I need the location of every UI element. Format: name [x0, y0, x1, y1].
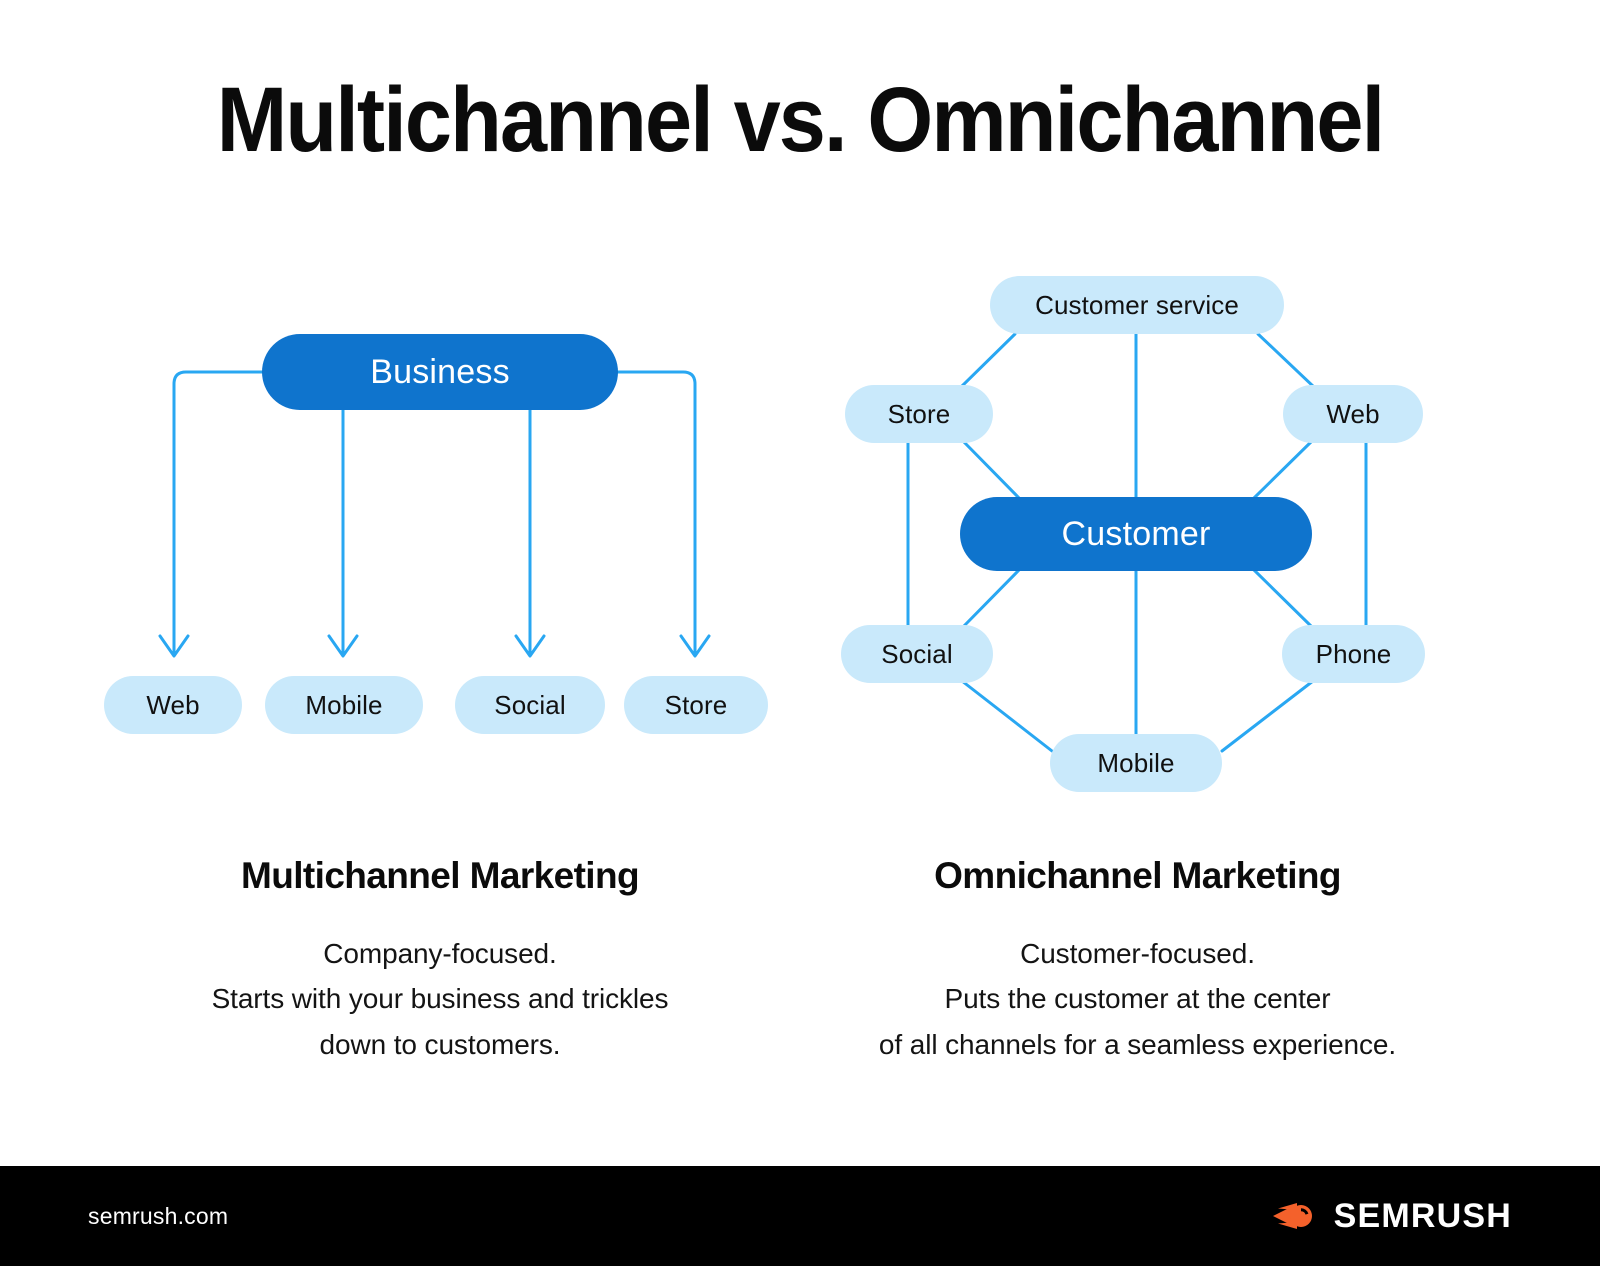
edge-business-web: [174, 372, 262, 652]
semrush-wordmark: SEMRUSH: [1334, 1197, 1512, 1236]
edge-cs-store: [960, 334, 1015, 388]
multichannel-caption: Multichannel Marketing Company-focused. …: [80, 855, 800, 1067]
node-customer-label: Customer: [1062, 515, 1211, 554]
multichannel-caption-line-2: Starts with your business and trickles: [80, 976, 800, 1021]
semrush-logo[interactable]: SEMRUSH: [1272, 1197, 1512, 1236]
node-multichannel-store-label: Store: [665, 690, 728, 721]
edge-customer-phone: [1253, 569, 1313, 628]
multichannel-caption-line-3: down to customers.: [80, 1022, 800, 1067]
edge-business-store: [616, 372, 695, 652]
arrowhead-social: [516, 636, 544, 656]
page-title: Multichannel vs. Omnichannel: [64, 72, 1536, 169]
omnichannel-caption-heading: Omnichannel Marketing: [775, 855, 1500, 897]
node-multichannel-store[interactable]: Store: [624, 676, 768, 734]
edge-social-mobile: [962, 681, 1052, 751]
node-omnichannel-store-label: Store: [888, 399, 951, 430]
node-multichannel-mobile[interactable]: Mobile: [265, 676, 423, 734]
node-customer[interactable]: Customer: [960, 497, 1312, 571]
footer-bar: semrush.com SEMRUSH: [0, 1166, 1600, 1266]
arrowhead-mobile: [329, 636, 357, 656]
omnichannel-caption-line-3: of all channels for a seamless experienc…: [775, 1022, 1500, 1067]
omnichannel-caption: Omnichannel Marketing Customer-focused. …: [775, 855, 1500, 1067]
omnichannel-caption-body: Customer-focused. Puts the customer at t…: [775, 931, 1500, 1067]
multichannel-caption-line-1: Company-focused.: [80, 931, 800, 976]
edge-cs-web: [1258, 334, 1315, 388]
node-omnichannel-store[interactable]: Store: [845, 385, 993, 443]
footer-url[interactable]: semrush.com: [88, 1203, 228, 1230]
multichannel-edges: [160, 372, 709, 656]
infographic-page: Multichannel vs. Omnichannel: [0, 0, 1600, 1266]
node-omnichannel-mobile[interactable]: Mobile: [1050, 734, 1222, 792]
omnichannel-caption-line-2: Puts the customer at the center: [775, 976, 1500, 1021]
node-business-label: Business: [370, 353, 510, 392]
node-multichannel-social-label: Social: [494, 690, 565, 721]
node-omnichannel-phone[interactable]: Phone: [1282, 625, 1425, 683]
node-multichannel-mobile-label: Mobile: [305, 690, 382, 721]
multichannel-caption-heading: Multichannel Marketing: [80, 855, 800, 897]
node-customer-service-label: Customer service: [1035, 290, 1239, 321]
node-customer-service[interactable]: Customer service: [990, 276, 1284, 334]
semrush-comet-icon: [1272, 1199, 1318, 1233]
node-omnichannel-social[interactable]: Social: [841, 625, 993, 683]
edge-customer-social: [962, 569, 1020, 628]
multichannel-caption-body: Company-focused. Starts with your busine…: [80, 931, 800, 1067]
node-multichannel-web-label: Web: [146, 690, 199, 721]
node-omnichannel-web[interactable]: Web: [1283, 385, 1423, 443]
node-business[interactable]: Business: [262, 334, 618, 410]
node-omnichannel-social-label: Social: [881, 639, 952, 670]
node-multichannel-social[interactable]: Social: [455, 676, 605, 734]
node-omnichannel-mobile-label: Mobile: [1097, 748, 1174, 779]
edge-store-customer: [962, 440, 1020, 499]
edge-phone-mobile: [1222, 681, 1313, 751]
arrowhead-store: [681, 636, 709, 656]
arrowhead-web: [160, 636, 188, 656]
node-omnichannel-phone-label: Phone: [1316, 639, 1392, 670]
node-omnichannel-web-label: Web: [1326, 399, 1379, 430]
omnichannel-caption-line-1: Customer-focused.: [775, 931, 1500, 976]
node-multichannel-web[interactable]: Web: [104, 676, 242, 734]
edge-web-customer: [1253, 440, 1313, 499]
